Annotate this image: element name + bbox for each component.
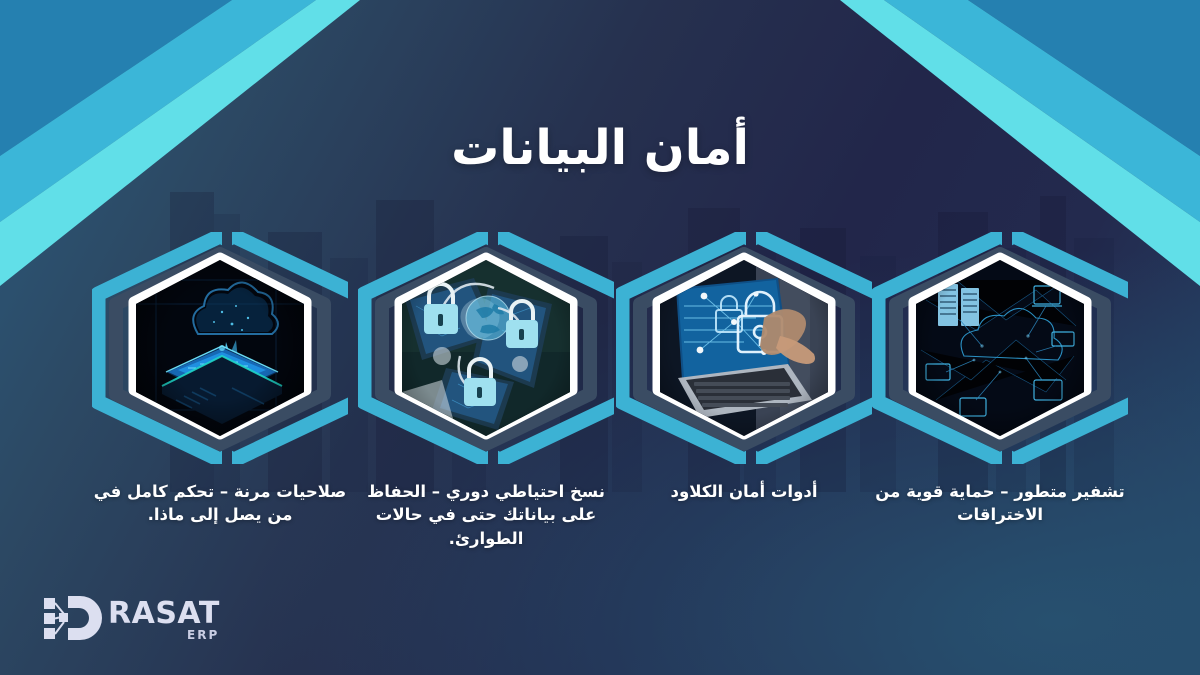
hex-card-backup[interactable]: نسخ احتياطي دوري – الحفاظ على بياناتك حت…: [358, 232, 614, 632]
drasat-d-mark: [44, 594, 102, 646]
hex-card-caption: تشفير متطور – حماية قوية من الاختراقات: [872, 480, 1128, 527]
hex-card-permissions[interactable]: صلاحيات مرنة – تحكم كامل في من يصل إلى م…: [92, 232, 348, 632]
hex-frame: [358, 232, 614, 464]
hex-card-row: تشفير متطور – حماية قوية من الاختراقات: [0, 232, 1200, 632]
brand-logo[interactable]: RASAT ERP: [44, 592, 244, 650]
hex-frame: [616, 232, 872, 464]
hex-frame: [92, 232, 348, 464]
hex-frame: [872, 232, 1128, 464]
hex-card-caption: أدوات أمان الكلاود: [616, 480, 872, 503]
page-title: أمان البيانات: [0, 120, 1200, 176]
slide-root: أمان البيانات: [0, 0, 1200, 675]
logo-wordmark: RASAT: [108, 596, 220, 631]
hex-card-cloud-tools[interactable]: أدوات أمان الكلاود: [616, 232, 872, 632]
hex-card-caption: نسخ احتياطي دوري – الحفاظ على بياناتك حت…: [358, 480, 614, 550]
hex-card-caption: صلاحيات مرنة – تحكم كامل في من يصل إلى م…: [92, 480, 348, 527]
logo-subtitle: ERP: [187, 628, 219, 642]
hex-card-encryption[interactable]: تشفير متطور – حماية قوية من الاختراقات: [872, 232, 1128, 632]
